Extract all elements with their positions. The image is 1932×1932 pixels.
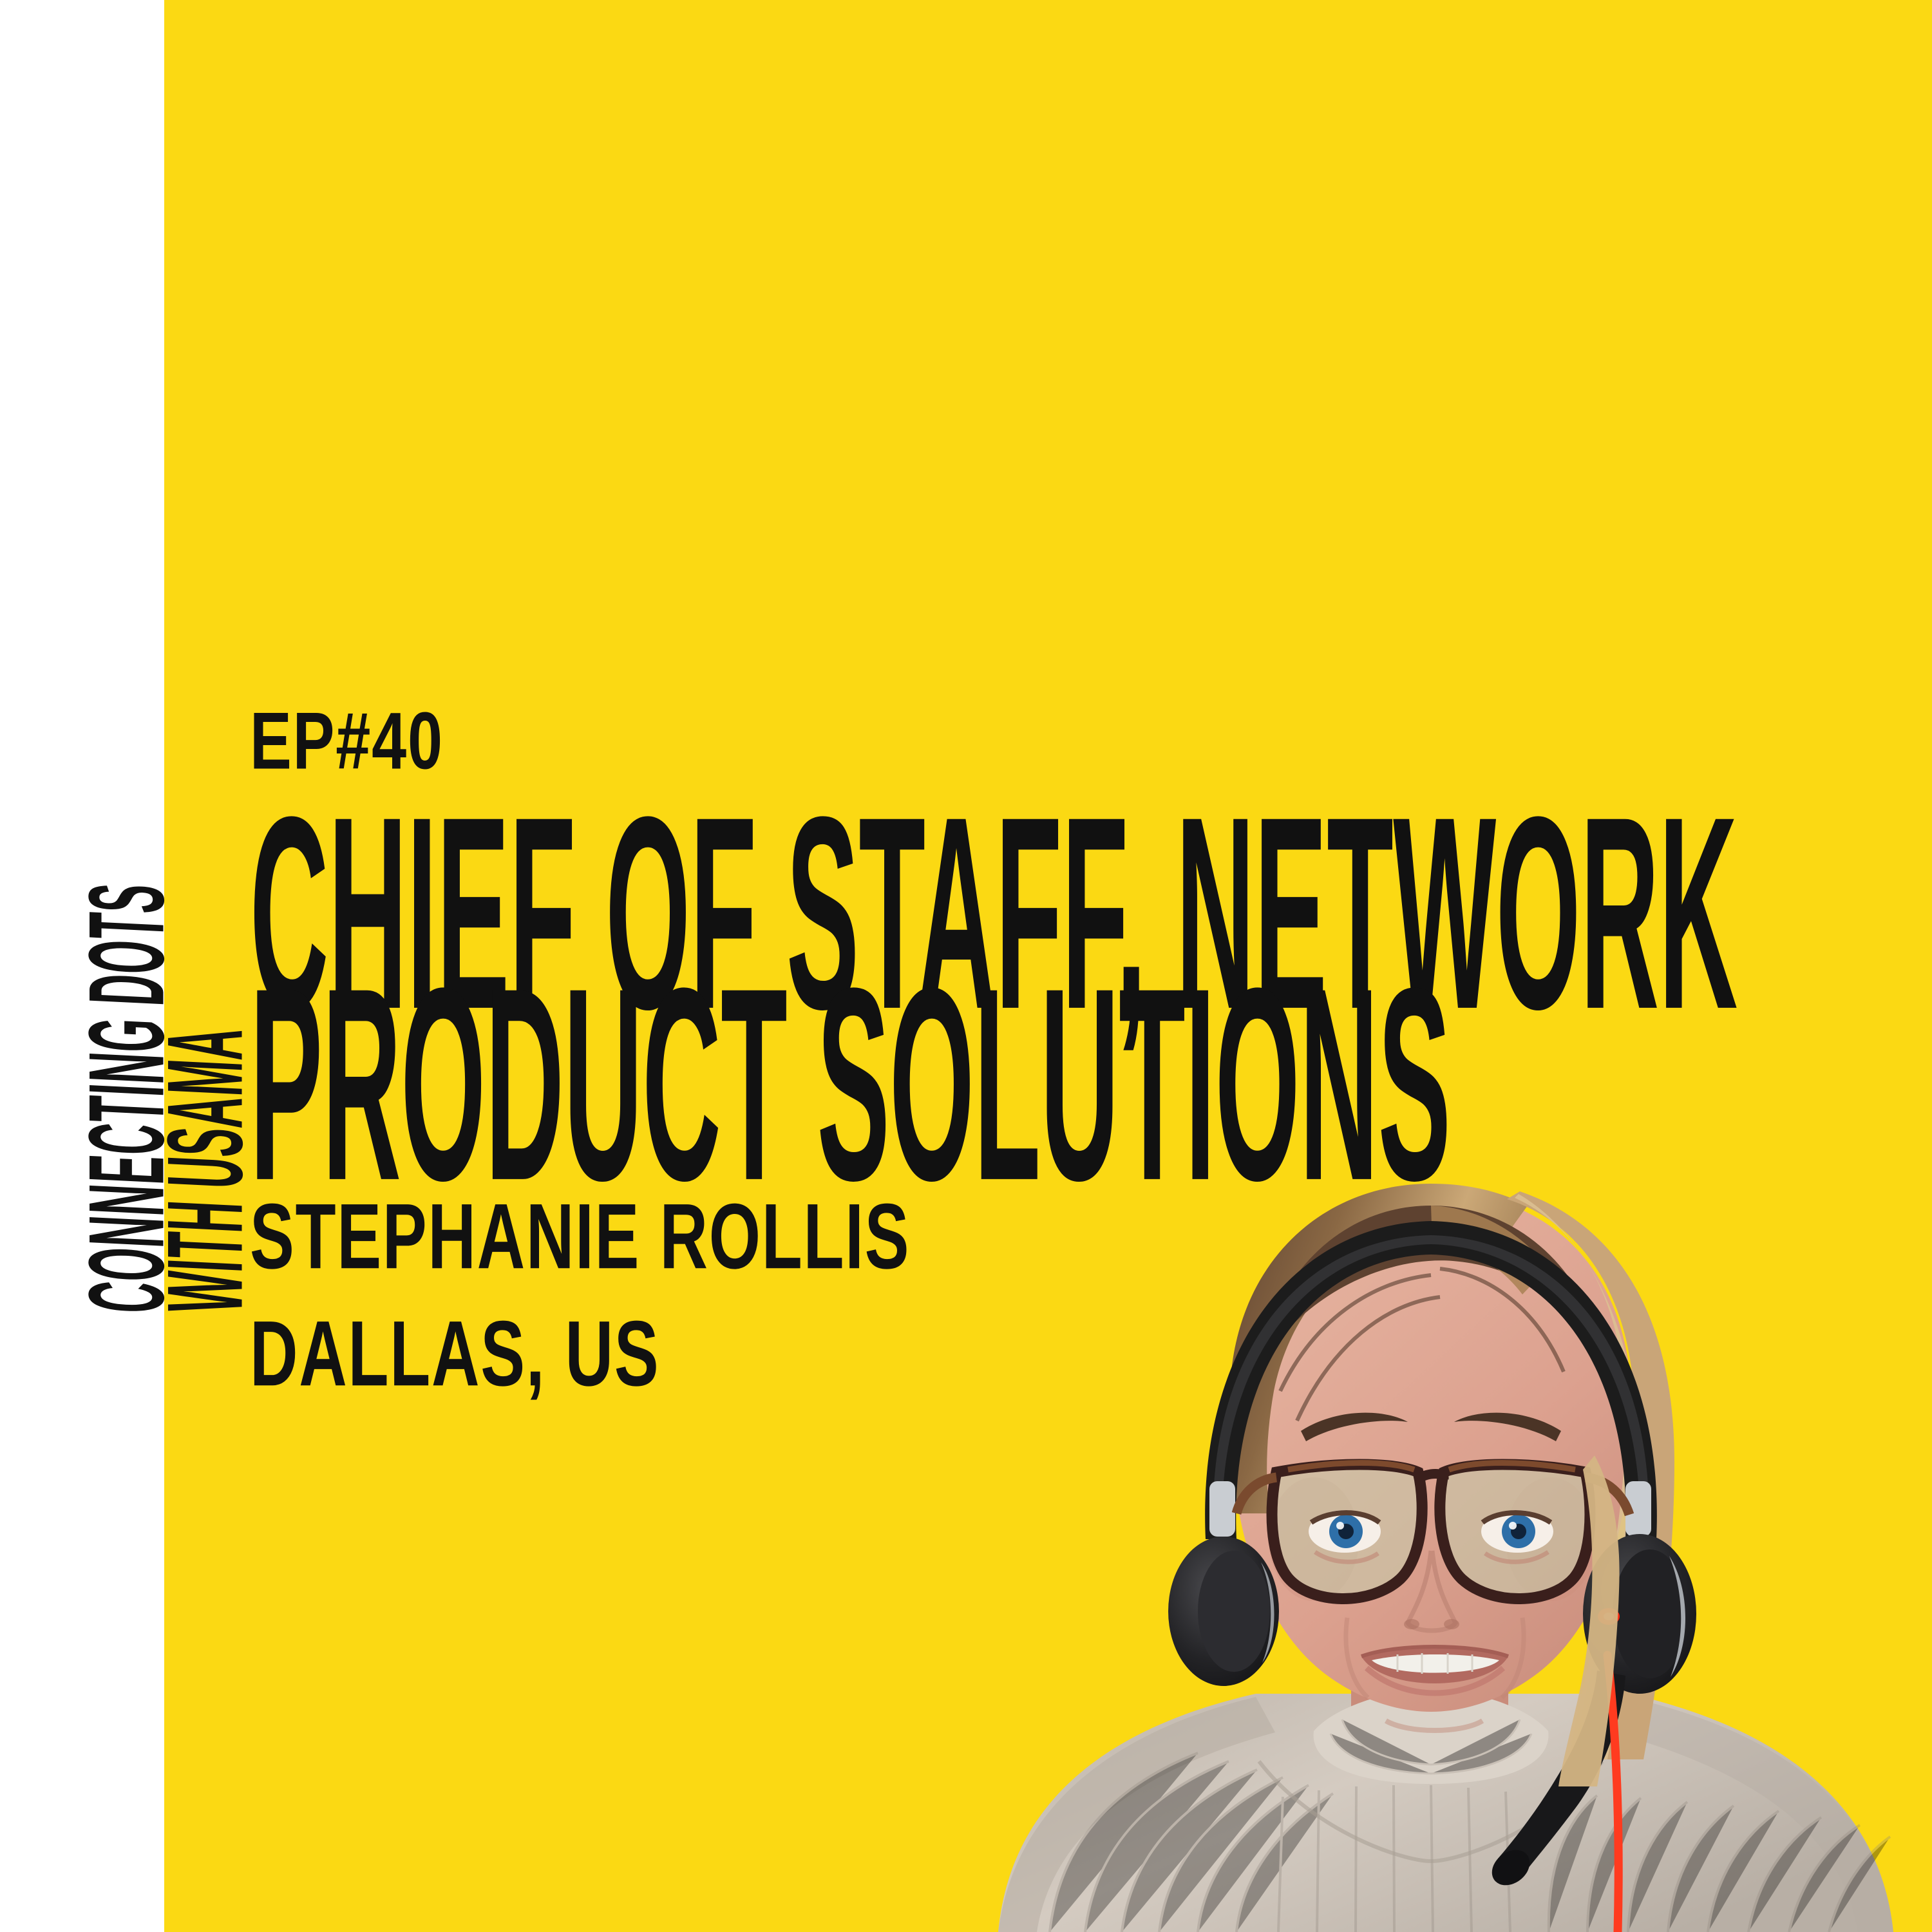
episode-title: CHIEF OF STAFF, NETWORK PRODUCT SOLUTION… bbox=[250, 795, 1731, 1135]
podcast-cover: CONNECTING DOTS WITH USAMA bbox=[0, 0, 1932, 1932]
guest-location: DALLAS, US bbox=[250, 1307, 1524, 1408]
guest-name: STEPHANIE ROLLIS bbox=[250, 1190, 1524, 1291]
left-white-panel bbox=[0, 0, 164, 1932]
text-block: EP#40 CHIEF OF STAFF, NETWORK PRODUCT SO… bbox=[250, 701, 1731, 1391]
episode-title-line-2: PRODUCT SOLUTIONS bbox=[250, 966, 1087, 1206]
headset-slider-left bbox=[1209, 1481, 1235, 1537]
